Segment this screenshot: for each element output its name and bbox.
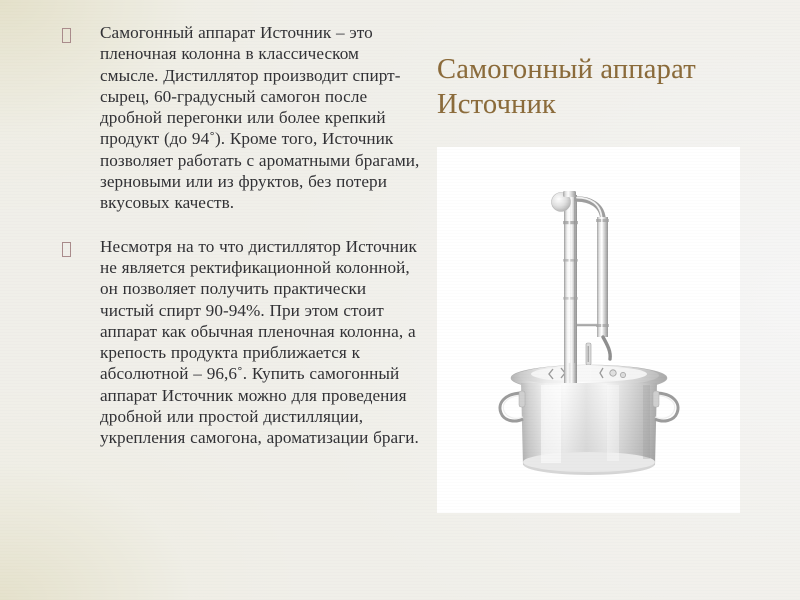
- bullet-paragraph-2-text: Несмотря на то что дистиллятор Источник …: [100, 237, 419, 448]
- bullet-marker-icon: [62, 28, 71, 43]
- body-text-column: Самогонный аппарат Источник – это пленоч…: [60, 22, 420, 449]
- bullet-paragraph-1-text: Самогонный аппарат Источник – это пленоч…: [100, 23, 419, 212]
- picture-frame: [437, 147, 740, 513]
- slide-title: Самогонный аппарат Источник: [437, 52, 767, 122]
- presentation-slide: Самогонный аппарат Источник – это пленоч…: [0, 0, 800, 600]
- moonshine-still-image: [437, 147, 740, 513]
- bullet-paragraph-1: Самогонный аппарат Источник – это пленоч…: [60, 22, 420, 214]
- bullet-marker-icon: [62, 242, 71, 257]
- bullet-paragraph-2: Несмотря на то что дистиллятор Источник …: [60, 236, 420, 449]
